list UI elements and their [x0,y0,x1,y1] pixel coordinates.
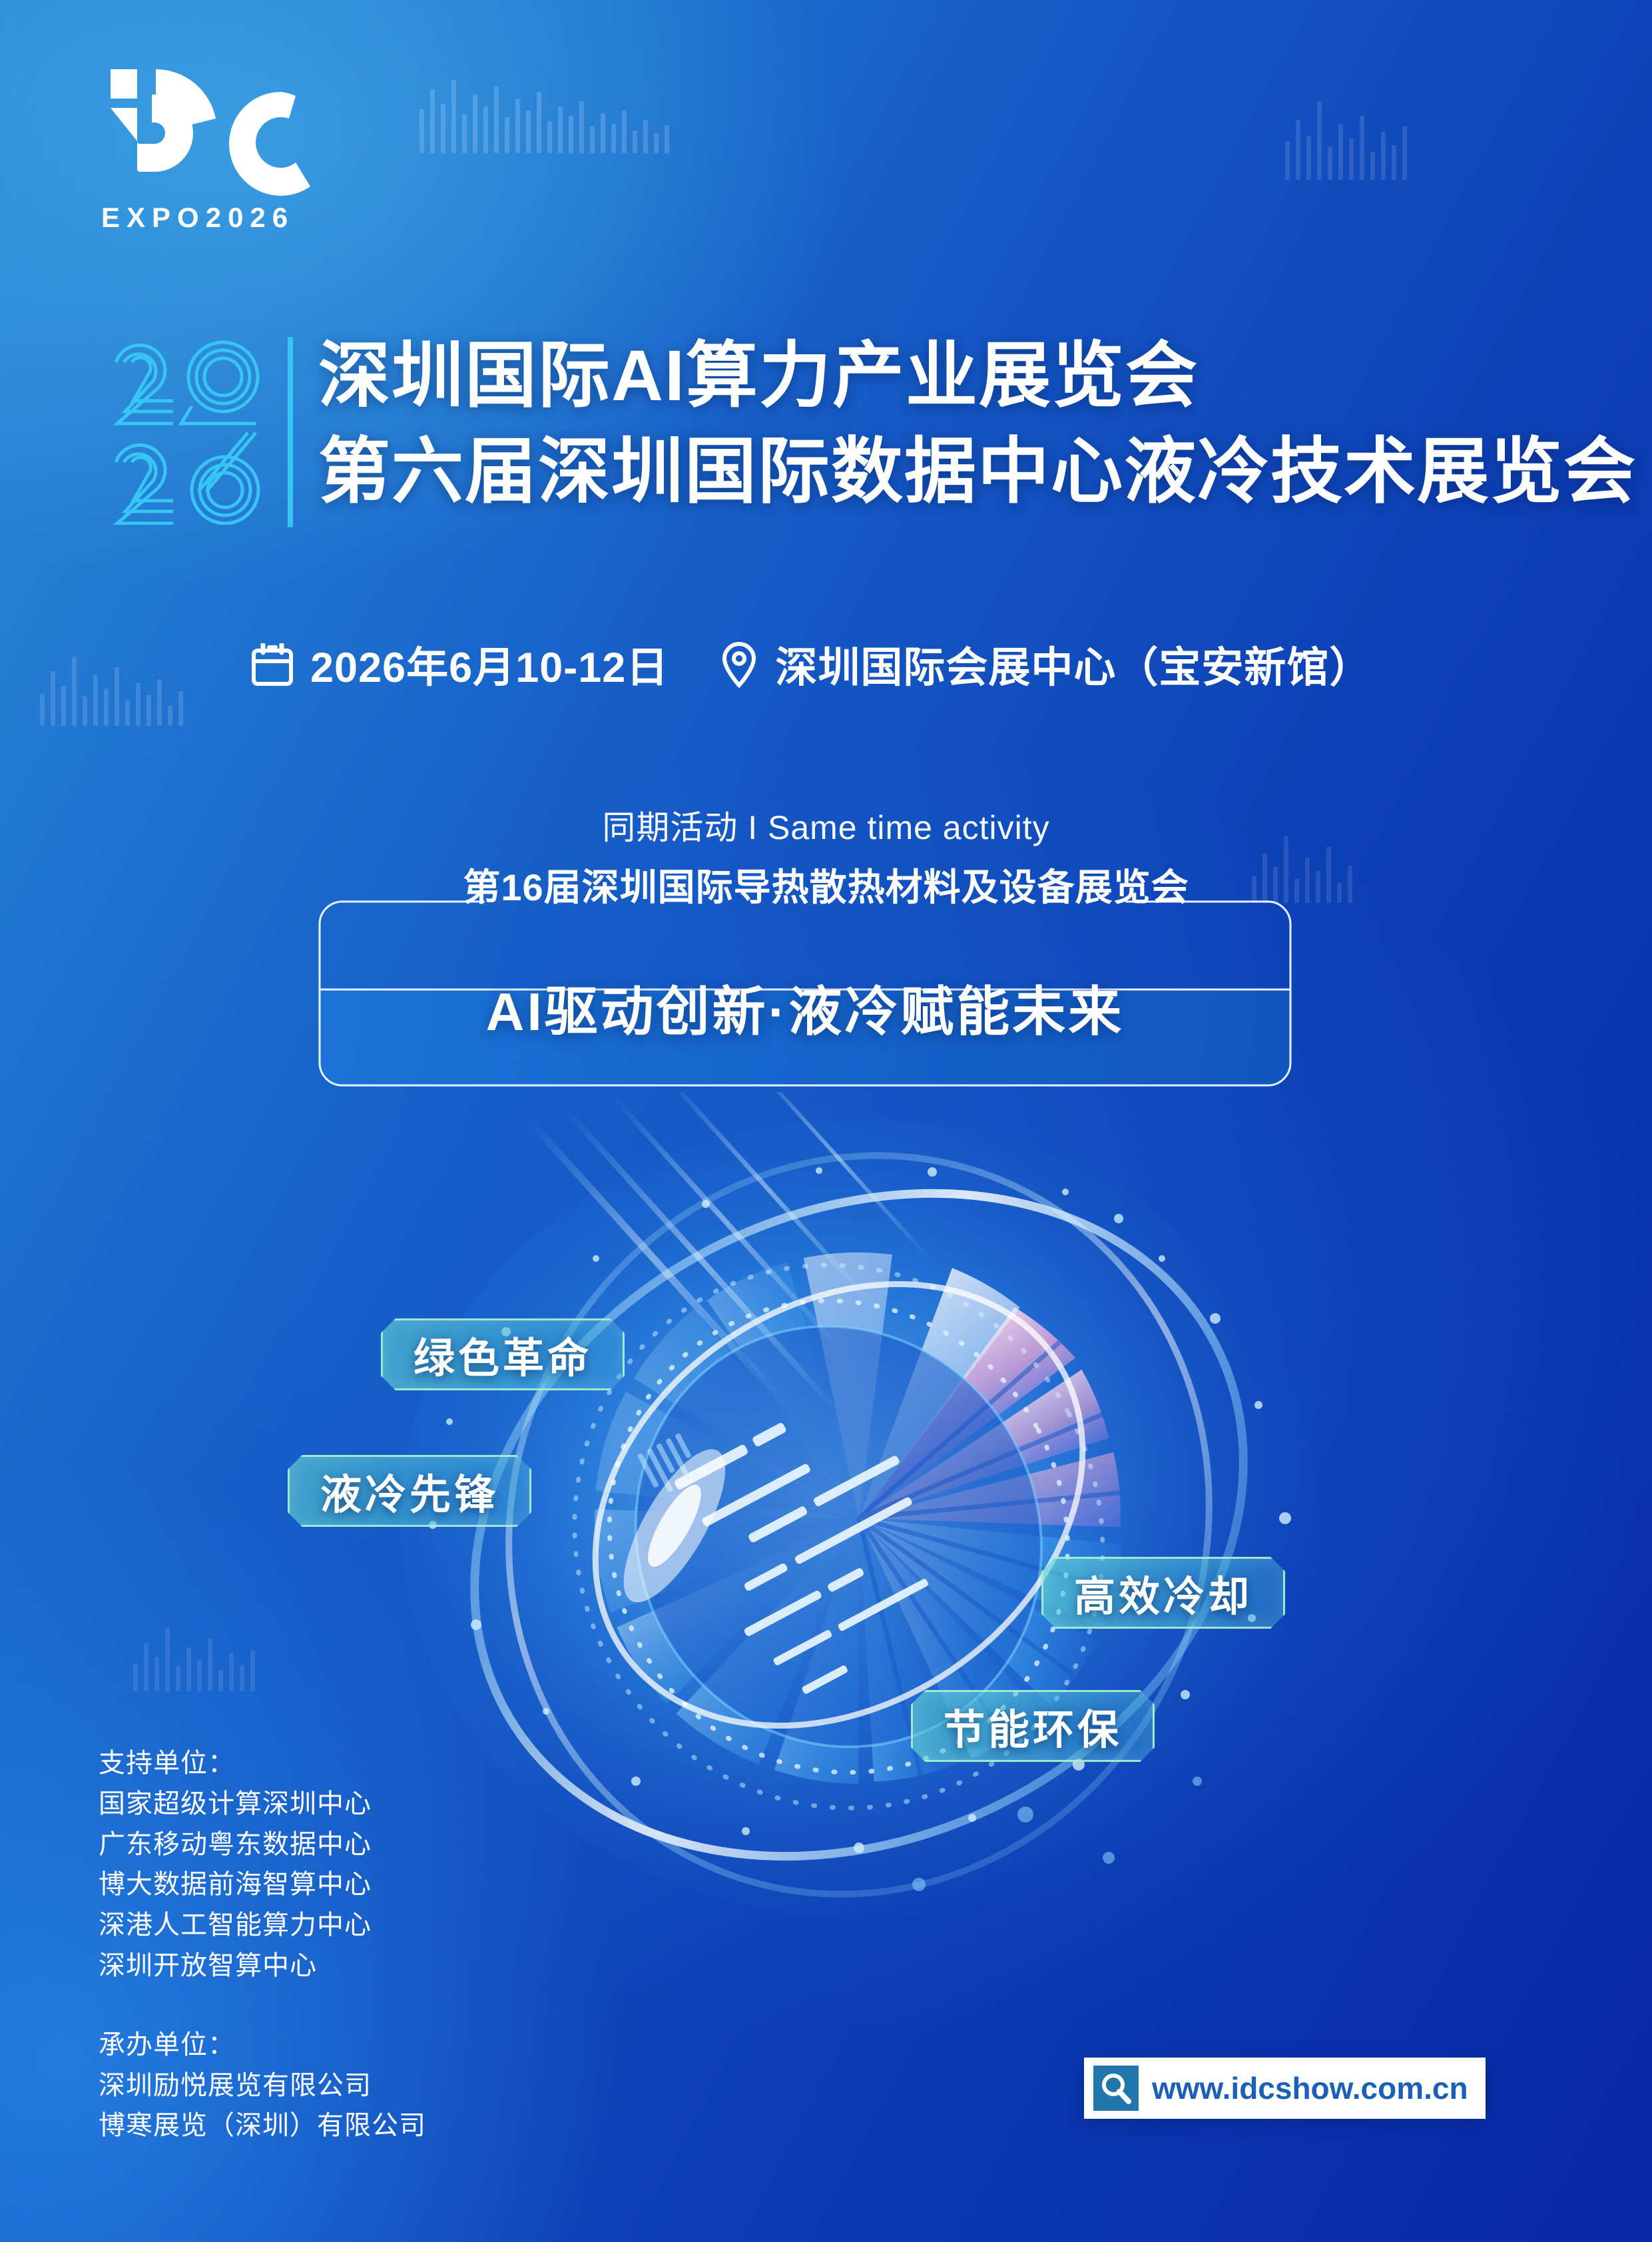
same-time-subtitle: 第16届深圳国际导热散热材料及设备展览会 [0,858,1652,912]
decor-bars-lower-left [133,1625,255,1691]
keyword-badge-liquid-cooling-pioneer: 液冷先锋 [288,1455,531,1527]
brand-logo: EXPO2026 [99,64,312,232]
title-divider-rule [288,337,293,527]
calendar-icon [252,643,293,686]
keyword-badge-energy-saving: 节能环保 [911,1690,1155,1762]
location-pin-icon [720,641,758,688]
website-badge[interactable]: www.idcshow.com.cn [1084,2058,1486,2119]
support-unit-item: 深圳开放智算中心 [99,1946,426,1986]
idc-monogram-icon [99,64,312,197]
organizer-unit-item: 博寒展览（深圳）有限公司 [99,2105,426,2146]
support-units-heading: 支持单位： [99,1743,426,1784]
decor-bars-mid-left [40,653,183,726]
decor-bars-top-right [1285,100,1407,180]
support-unit-item: 博大数据前海智算中心 [99,1864,426,1905]
hero-turbine-graphic [333,1092,1412,1984]
year-digit-0-top [181,342,258,423]
event-slogan: AI驱动创新·液冷赋能未来 [318,969,1292,1046]
event-venue: 深圳国际会展中心（宝安新馆） [720,634,1372,695]
decor-bars-top-left [419,80,669,153]
event-date: 2026年6月10-12日 [252,634,669,695]
website-url-text: www.idcshow.com.cn [1152,2070,1468,2106]
organizer-units: 承办单位： 深圳励悦展览有限公司 博寒展览（深圳）有限公司 [99,2025,426,2146]
logo-wordmark: EXPO2026 [99,204,312,232]
support-units: 支持单位： 国家超级计算深圳中心 广东移动粤东数据中心 博大数据前海智算中心 深… [99,1743,426,1986]
organizer-unit-item: 深圳励悦展览有限公司 [99,2066,426,2106]
event-date-text: 2026年6月10-12日 [310,634,669,695]
support-unit-item: 深港人工智能算力中心 [99,1905,426,1946]
title-line-2: 第六届深圳国际数据中心液冷技术展览会 [318,423,1637,519]
support-unit-item: 国家超级计算深圳中心 [99,1784,426,1824]
organizer-units-heading: 承办单位： [99,2025,426,2066]
credits-block: 支持单位： 国家超级计算深圳中心 广东移动粤东数据中心 博大数据前海智算中心 深… [99,1743,426,2146]
event-meta: 2026年6月10-12日 深圳国际会展中心（宝安新馆） [252,634,1372,695]
keyword-badge-efficient-cooling: 高效冷却 [1041,1557,1285,1629]
year-digit-6-bottom [192,433,258,523]
search-magnifier-icon [1093,2066,1139,2111]
main-titles: 深圳国际AI算力产业展览会 第六届深圳国际数据中心液冷技术展览会 [318,328,1637,519]
year-digit-2-top [116,345,173,423]
same-time-label: 同期活动 I Same time activity [0,801,1652,849]
year-digit-2-bottom [116,445,173,523]
keyword-badge-green-revolution: 绿色革命 [381,1318,625,1390]
poster-root: EXPO2026 [0,0,1652,2242]
year-mark-decoration [107,332,306,525]
title-line-1: 深圳国际AI算力产业展览会 [318,328,1637,423]
support-unit-item: 广东移动粤东数据中心 [99,1824,426,1865]
event-venue-text: 深圳国际会展中心（宝安新馆） [775,634,1372,695]
